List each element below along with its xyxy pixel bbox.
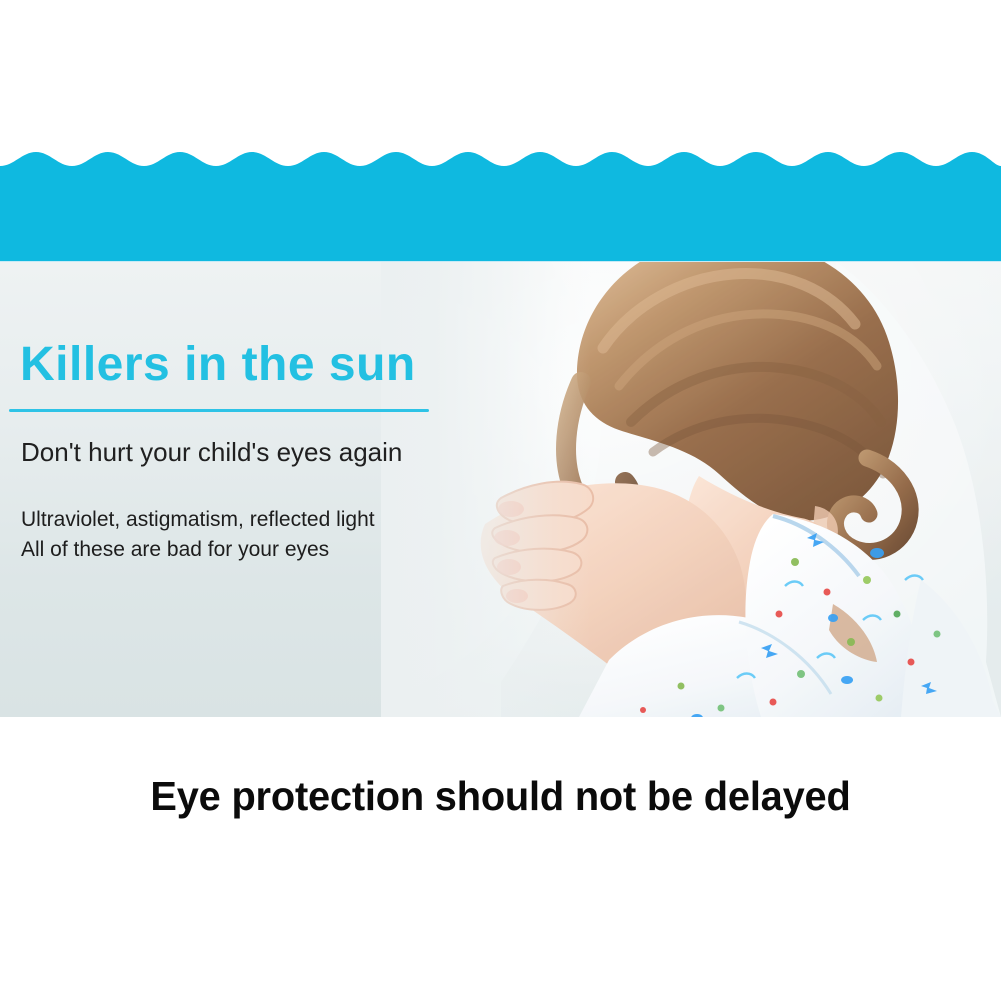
- wave-band: [0, 144, 1001, 262]
- subtitle: Don't hurt your child's eyes again: [21, 437, 402, 468]
- bottom-white-area: [0, 717, 1001, 1001]
- page-title: Killers in the sun: [20, 341, 416, 389]
- child-photo: [381, 262, 1001, 717]
- content-panel: Killers in the sun Don't hurt your child…: [0, 262, 1001, 717]
- poster-root: Killers in the sun Don't hurt your child…: [0, 0, 1001, 1001]
- title-underline: [9, 409, 429, 412]
- top-white-area: [0, 0, 1001, 152]
- wave-shape: [0, 152, 1001, 262]
- detail-line-2: All of these are bad for your eyes: [21, 535, 375, 565]
- footer-headline: Eye protection should not be delayed: [15, 773, 986, 820]
- detail-line-1: Ultraviolet, astigmatism, reflected ligh…: [21, 505, 375, 535]
- detail-text: Ultraviolet, astigmatism, reflected ligh…: [21, 505, 375, 566]
- copy-block: Killers in the sun Don't hurt your child…: [0, 262, 470, 717]
